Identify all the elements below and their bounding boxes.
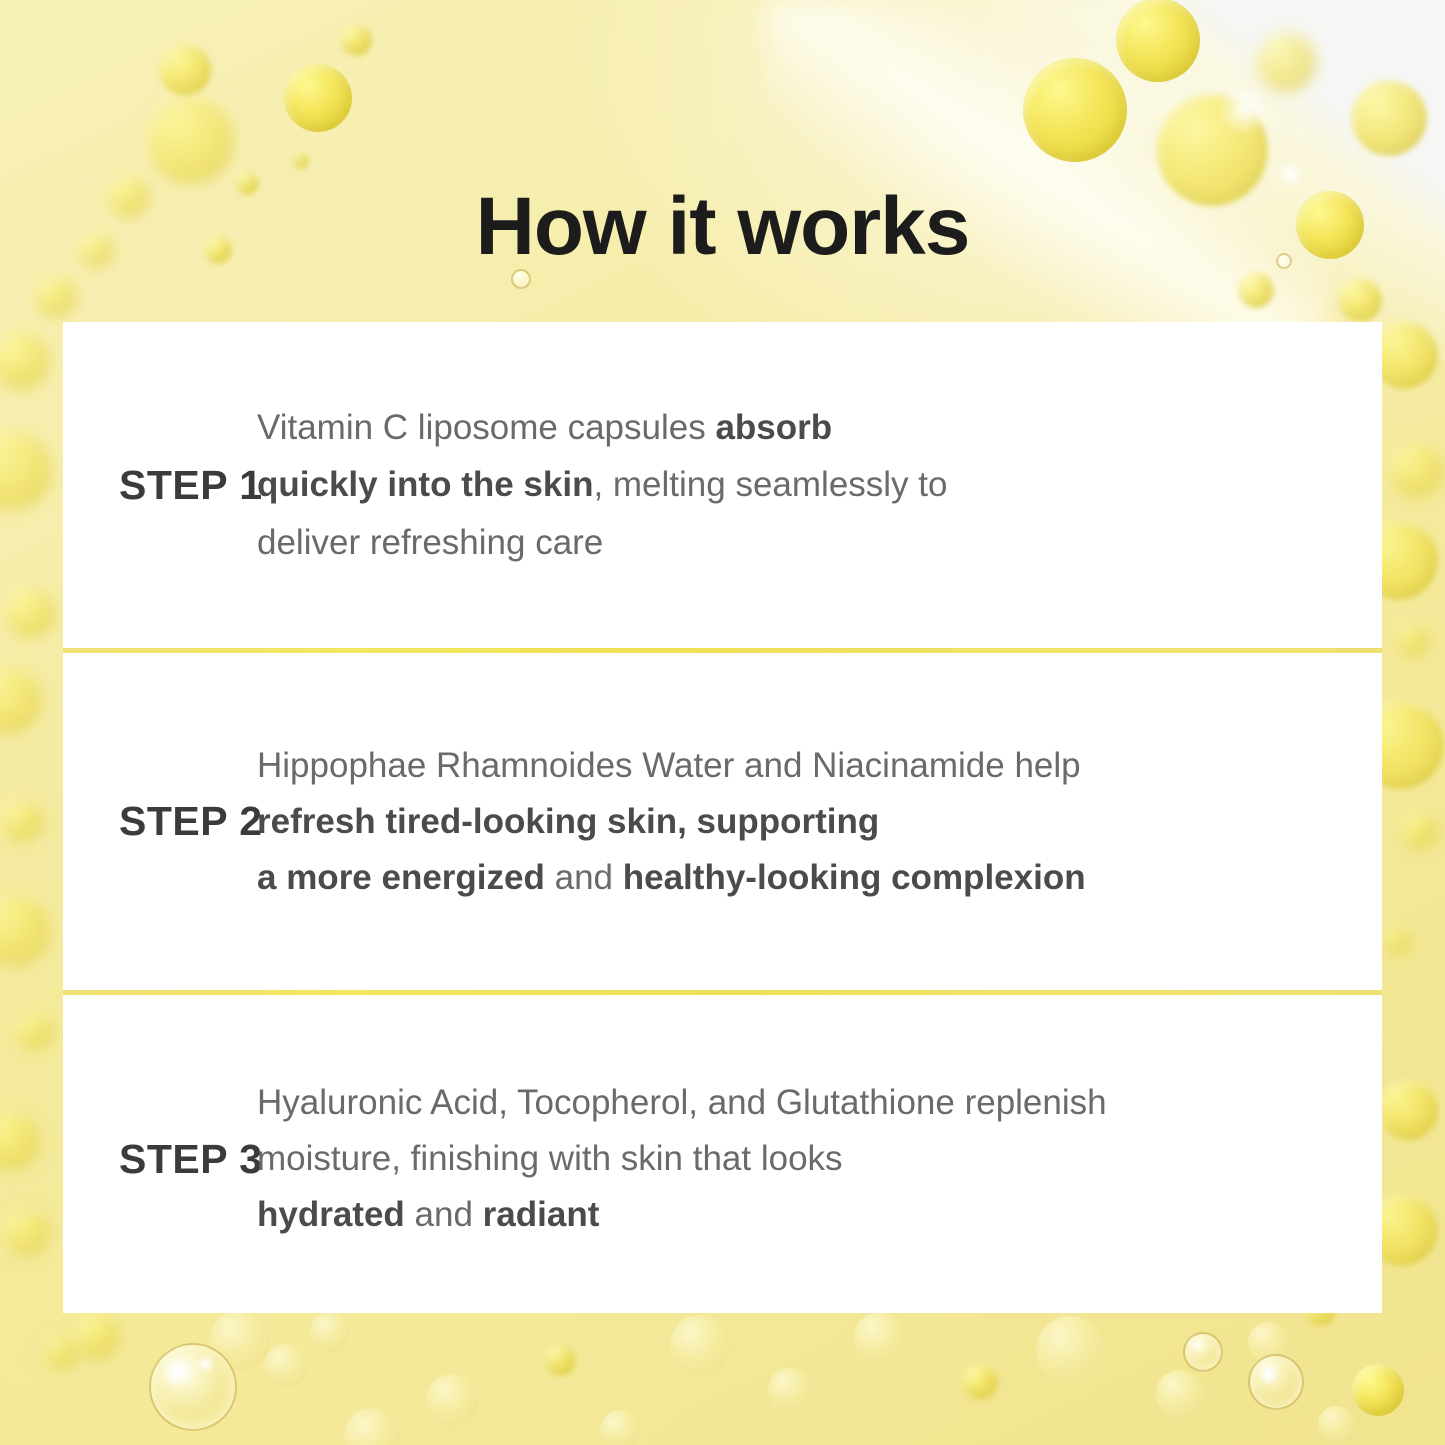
step-row-1: STEP 1 Vitamin C liposome capsules absor… bbox=[63, 322, 1382, 648]
page-title: How it works bbox=[0, 186, 1445, 268]
step-text-line: quickly into the skin, melting seamlessl… bbox=[257, 456, 1342, 513]
plain-text: deliver refreshing care bbox=[257, 523, 603, 562]
oil-bubble bbox=[340, 24, 372, 56]
oil-bubble bbox=[291, 151, 309, 169]
emphasis-text: quickly into the skin bbox=[257, 465, 593, 504]
oil-bubble bbox=[33, 274, 77, 318]
bubble-highlight bbox=[160, 1356, 192, 1388]
oil-bubble bbox=[1399, 810, 1439, 850]
step-text-1: Vitamin C liposome capsules absorbquickl… bbox=[257, 399, 1382, 570]
oil-bubble bbox=[1338, 278, 1382, 322]
oil-bubble bbox=[1238, 272, 1274, 308]
bubble-highlight bbox=[196, 1354, 216, 1374]
emphasis-text: hydrated bbox=[257, 1195, 405, 1234]
bubble-highlight bbox=[1276, 161, 1304, 189]
oil-bubble bbox=[1351, 80, 1427, 156]
oil-bubble bbox=[670, 1315, 730, 1375]
oil-bubble bbox=[1380, 924, 1412, 956]
translucent-bubble bbox=[1183, 1332, 1223, 1372]
step-label-3: STEP 3 bbox=[63, 1136, 257, 1183]
oil-bubble bbox=[600, 1410, 640, 1445]
how-it-works-infographic: How it works STEP 1 Vitamin C liposome c… bbox=[0, 0, 1445, 1445]
oil-bubble bbox=[544, 1344, 576, 1376]
translucent-bubble bbox=[511, 269, 531, 289]
oil-bubble bbox=[1378, 1080, 1438, 1140]
oil-bubble bbox=[1156, 1370, 1204, 1418]
step-label-2: STEP 2 bbox=[63, 798, 257, 845]
emphasis-text: refresh tired-looking skin, supporting bbox=[257, 802, 879, 841]
oil-bubble bbox=[1036, 1316, 1104, 1384]
plain-text: and bbox=[545, 858, 623, 897]
oil-bubble bbox=[962, 1364, 998, 1400]
oil-bubble bbox=[1394, 622, 1430, 658]
emphasis-text: healthy-looking complexion bbox=[623, 858, 1086, 897]
oil-bubble bbox=[14, 1010, 54, 1050]
emphasis-text: a more energized bbox=[257, 858, 545, 897]
bubble-highlight bbox=[1259, 1367, 1277, 1385]
oil-bubble bbox=[1256, 32, 1316, 92]
plain-text: and bbox=[405, 1195, 483, 1234]
step-row-3: STEP 3 Hyaluronic Acid, Tocopherol, and … bbox=[63, 995, 1382, 1323]
step-text-line: Vitamin C liposome capsules absorb bbox=[257, 399, 1342, 456]
plain-text: Vitamin C liposome capsules bbox=[257, 408, 715, 447]
oil-bubble bbox=[146, 96, 234, 184]
oil-bubble bbox=[1352, 1364, 1404, 1416]
emphasis-text: radiant bbox=[483, 1195, 600, 1234]
step-text-line: refresh tired-looking skin, supporting bbox=[257, 794, 1342, 850]
translucent-bubble bbox=[1248, 1354, 1304, 1410]
oil-bubble bbox=[264, 1344, 308, 1388]
oil-bubble bbox=[1388, 442, 1444, 498]
step-text-line: moisture, finishing with skin that looks bbox=[257, 1131, 1342, 1187]
plain-text: Hippophae Rhamnoides Water and Niacinami… bbox=[257, 746, 1081, 785]
translucent-bubble bbox=[149, 1343, 237, 1431]
oil-bubble bbox=[1116, 0, 1200, 82]
oil-bubble bbox=[159, 44, 211, 96]
plain-text: Hyaluronic Acid, Tocopherol, and Glutath… bbox=[257, 1083, 1107, 1122]
step-text-line: Hyaluronic Acid, Tocopherol, and Glutath… bbox=[257, 1075, 1342, 1131]
bubble-highlight bbox=[1218, 84, 1270, 136]
step-text-line: deliver refreshing care bbox=[257, 514, 1342, 571]
steps-card: STEP 1 Vitamin C liposome capsules absor… bbox=[63, 322, 1382, 1313]
step-text-line: Hippophae Rhamnoides Water and Niacinami… bbox=[257, 738, 1342, 794]
plain-text: moisture, finishing with skin that looks bbox=[257, 1139, 843, 1178]
step-text-line: a more energized and healthy-looking com… bbox=[257, 850, 1342, 906]
step-text-line: hydrated and radiant bbox=[257, 1187, 1342, 1243]
oil-bubble bbox=[0, 798, 44, 842]
step-label-1: STEP 1 bbox=[63, 462, 257, 509]
oil-bubble bbox=[284, 64, 352, 132]
oil-bubble bbox=[2, 1208, 50, 1256]
oil-bubble bbox=[4, 586, 56, 638]
plain-text: , melting seamlessly to bbox=[593, 465, 947, 504]
oil-bubble bbox=[426, 1374, 478, 1426]
step-row-2: STEP 2 Hippophae Rhamnoides Water and Ni… bbox=[63, 653, 1382, 990]
oil-bubble bbox=[768, 1368, 812, 1412]
oil-bubble bbox=[1023, 58, 1127, 162]
step-text-3: Hyaluronic Acid, Tocopherol, and Glutath… bbox=[257, 1075, 1382, 1243]
step-text-2: Hippophae Rhamnoides Water and Niacinami… bbox=[257, 738, 1382, 906]
emphasis-text: absorb bbox=[715, 408, 832, 447]
oil-bubble bbox=[1318, 1406, 1354, 1442]
